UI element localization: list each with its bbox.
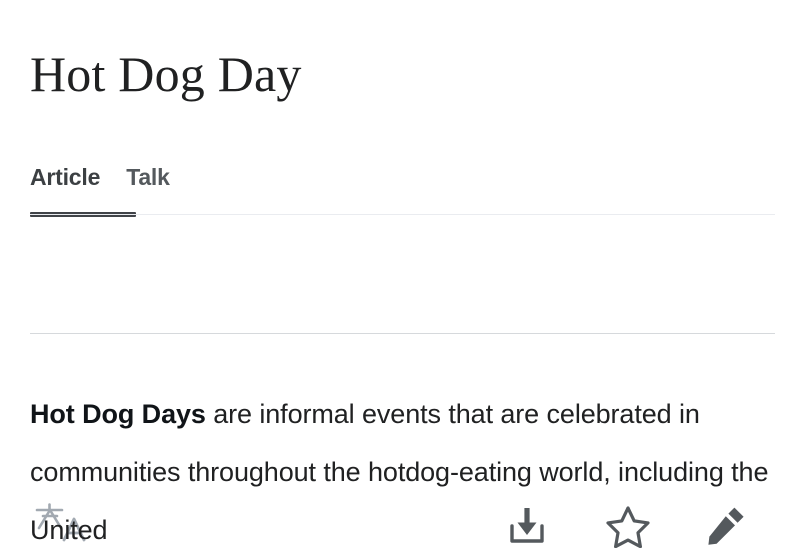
- article-lead-paragraph: Hot Dog Days are informal events that ar…: [30, 385, 772, 559]
- article-lead-term: Hot Dog Days: [30, 399, 206, 429]
- article-toolbar: [0, 246, 800, 316]
- toolbar-divider: [30, 333, 775, 334]
- tab-talk[interactable]: Talk: [126, 163, 170, 191]
- tab-article[interactable]: Article: [30, 163, 100, 191]
- tabs-divider: [30, 214, 775, 215]
- article-page: Hot Dog Day Article Talk: [0, 0, 800, 547]
- article-tabs: Article Talk: [30, 163, 170, 191]
- page-title: Hot Dog Day: [30, 44, 302, 104]
